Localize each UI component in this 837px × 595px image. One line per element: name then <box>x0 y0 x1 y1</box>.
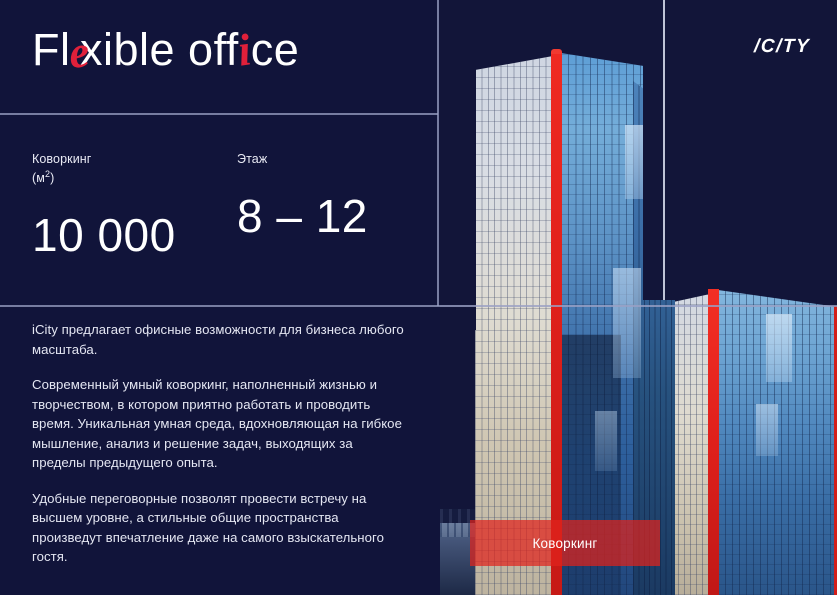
headline-part-2: xible off <box>80 24 239 75</box>
page-title: Flexible office <box>32 22 412 78</box>
stat-label: Этаж <box>237 152 368 167</box>
tower-primary-facade-light <box>475 56 553 595</box>
stat-label-main: Коворкинг <box>32 152 91 166</box>
stats-row: Коворкинг(м2) 10 000 Этаж 8 – 12 <box>32 152 368 260</box>
left-content-column: Flexible office Коворкинг(м2) 10 000 Эта… <box>0 0 438 595</box>
coworking-band-label: Коворкинг <box>532 536 597 551</box>
stat-label-main: Этаж <box>237 152 267 166</box>
divider-vertical-main <box>437 0 439 306</box>
building-photo-panel: Коворкинг /C/TY <box>440 0 837 595</box>
tower-secondary-window-cluster-upper <box>766 314 792 382</box>
stat-label-unit-suffix: ) <box>50 171 54 185</box>
divider-horizontal-panel <box>440 305 837 307</box>
paragraph-intro: iCity предлагает офисные возможности для… <box>32 320 404 359</box>
paragraph-meeting-rooms: Удобные переговорные позволят провести в… <box>32 489 404 567</box>
divider-vertical-panel <box>663 0 665 300</box>
headline-part-3: ce <box>251 24 300 75</box>
sky-backdrop-gap <box>643 0 679 300</box>
stat-coworking-area: Коворкинг(м2) 10 000 <box>32 152 237 260</box>
divider-horizontal-top <box>0 113 438 115</box>
stat-value: 10 000 <box>32 210 237 260</box>
tower-secondary-red-stripe <box>708 289 719 595</box>
stat-label-unit-prefix: (м <box>32 171 45 185</box>
headline-part-1: Fl <box>32 24 71 75</box>
tower-secondary-window-cluster-mid <box>756 404 778 456</box>
title-block: Flexible office <box>32 22 412 100</box>
tower-primary-stripe-cap <box>551 49 562 54</box>
tower-secondary <box>648 276 837 595</box>
stat-floor-range: Этаж 8 – 12 <box>237 152 368 260</box>
brand-logo: /C/TY <box>754 36 811 58</box>
stat-label: Коворкинг(м2) <box>32 152 237 186</box>
body-copy: iCity предлагает офисные возможности для… <box>32 320 404 567</box>
stat-value: 8 – 12 <box>237 191 368 241</box>
sky-backdrop-left <box>440 0 476 330</box>
tower-primary-red-stripe <box>551 52 562 595</box>
coworking-highlight-band: Коворкинг <box>470 520 660 566</box>
presentation-slide: Flexible office Коворкинг(м2) 10 000 Эта… <box>0 0 837 595</box>
paragraph-coworking: Современный умный коворкинг, наполненный… <box>32 375 404 473</box>
tower-primary-window-cluster-lower <box>595 411 617 471</box>
tower-primary-window-cluster-mid <box>613 268 641 378</box>
